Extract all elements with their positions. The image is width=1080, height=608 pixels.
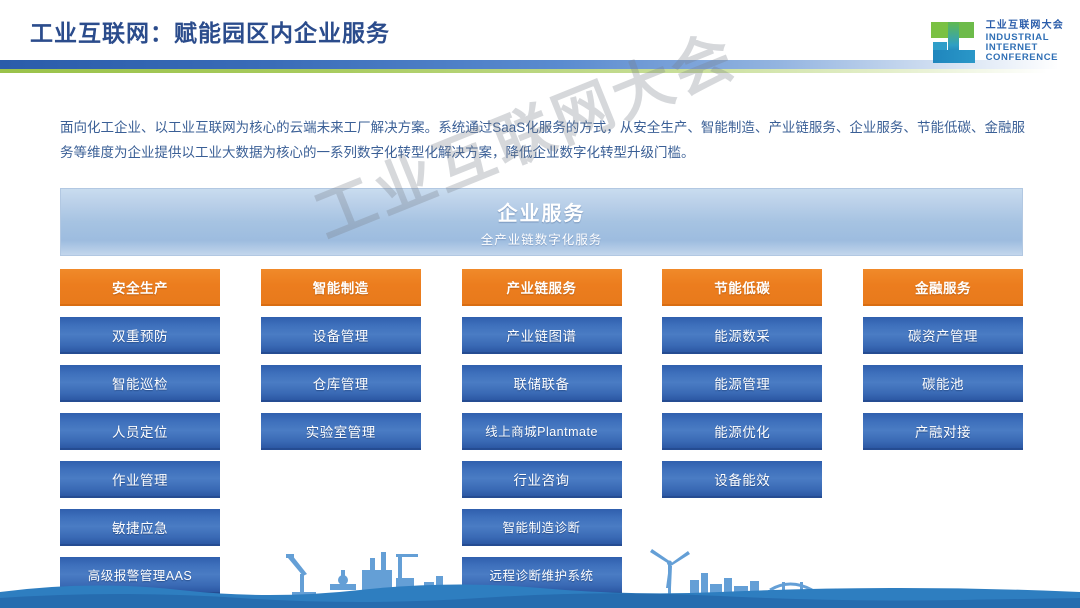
service-item[interactable]: 双重预防 (60, 317, 220, 354)
service-item[interactable]: 仓库管理 (261, 365, 421, 402)
service-item[interactable]: 人员定位 (60, 413, 220, 450)
service-item[interactable]: 智能巡检 (60, 365, 220, 402)
service-column-1: 智能制造 设备管理 仓库管理 实验室管理 (261, 269, 421, 594)
logo-title-cn: 工业互联网大会 (986, 21, 1064, 32)
title-divider-green (0, 69, 1080, 73)
service-item[interactable]: 智能制造诊断 (462, 509, 622, 546)
slide-canvas: 工业互联网：赋能园区内企业服务 工业互联网大会 INDUSTRIAL INTER… (0, 0, 1080, 608)
conference-logo: 工业互联网大会 INDUSTRIAL INTERNET CONFERENCE (931, 16, 1064, 68)
service-item[interactable]: 能源优化 (662, 413, 822, 450)
column-header-0[interactable]: 安全生产 (60, 269, 220, 306)
service-item[interactable]: 能源管理 (662, 365, 822, 402)
service-item[interactable]: 线上商城Plantmate (462, 413, 622, 450)
service-item[interactable]: 行业咨询 (462, 461, 622, 498)
service-column-2: 产业链服务 产业链图谱 联储联备 线上商城Plantmate 行业咨询 智能制造… (462, 269, 622, 594)
service-item[interactable]: 碳能池 (863, 365, 1023, 402)
logo-text: 工业互联网大会 INDUSTRIAL INTERNET CONFERENCE (986, 21, 1064, 63)
service-item[interactable]: 敏捷应急 (60, 509, 220, 546)
enterprise-service-banner: 企业服务 全产业链数字化服务 (60, 188, 1023, 256)
service-item[interactable]: 设备能效 (662, 461, 822, 498)
page-title: 工业互联网：赋能园区内企业服务 (30, 14, 390, 48)
service-item[interactable]: 设备管理 (261, 317, 421, 354)
service-item[interactable]: 联储联备 (462, 365, 622, 402)
column-header-4[interactable]: 金融服务 (863, 269, 1023, 306)
column-header-3[interactable]: 节能低碳 (662, 269, 822, 306)
intro-paragraph: 面向化工企业、以工业互联网为核心的云端未来工厂解决方案。系统通过SaaS化服务的… (60, 115, 1025, 165)
service-item[interactable]: 能源数采 (662, 317, 822, 354)
column-header-1[interactable]: 智能制造 (261, 269, 421, 306)
service-item[interactable]: 产业链图谱 (462, 317, 622, 354)
logo-title-en-3: CONFERENCE (986, 53, 1064, 63)
service-item[interactable]: 作业管理 (60, 461, 220, 498)
service-column-0: 安全生产 双重预防 智能巡检 人员定位 作业管理 敏捷应急 高级报警管理AAS (60, 269, 220, 594)
logo-mark-icon (931, 16, 979, 68)
service-column-3: 节能低碳 能源数采 能源管理 能源优化 设备能效 (662, 269, 822, 594)
service-item[interactable]: 产融对接 (863, 413, 1023, 450)
title-divider-blue (0, 60, 1080, 69)
service-item[interactable]: 碳资产管理 (863, 317, 1023, 354)
service-item[interactable]: 远程诊断维护系统 (462, 557, 622, 594)
service-item[interactable]: 高级报警管理AAS (60, 557, 220, 594)
banner-subtitle: 全产业链数字化服务 (481, 229, 603, 248)
column-header-2[interactable]: 产业链服务 (462, 269, 622, 306)
service-item[interactable]: 实验室管理 (261, 413, 421, 450)
service-columns: 安全生产 双重预防 智能巡检 人员定位 作业管理 敏捷应急 高级报警管理AAS … (60, 269, 1023, 594)
service-column-4: 金融服务 碳资产管理 碳能池 产融对接 (863, 269, 1023, 594)
banner-title: 企业服务 (498, 197, 586, 226)
